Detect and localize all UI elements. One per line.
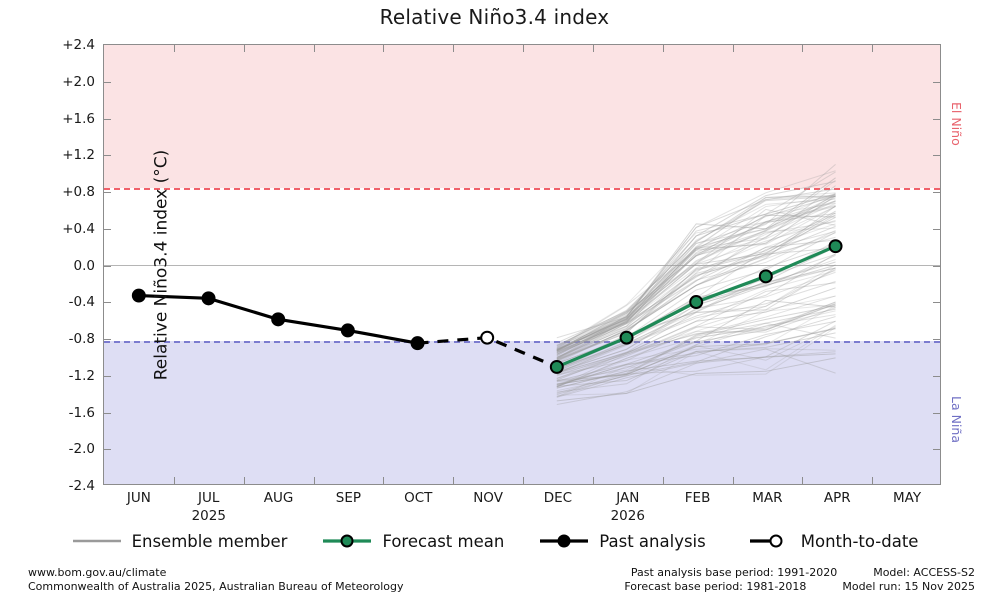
plot-area: +2.4+2.0+1.6+1.2+0.8+0.40.0-0.4-0.8-1.2-… bbox=[103, 44, 941, 485]
data-point-marker bbox=[272, 313, 284, 325]
data-point-marker bbox=[551, 361, 563, 373]
forecast-base-period: Forecast base period: 1981-2018 bbox=[624, 580, 806, 594]
x-tick-label: JUN bbox=[127, 490, 151, 506]
x-tick-label: JAN bbox=[616, 490, 639, 506]
legend-marker-icon bbox=[740, 533, 792, 549]
data-point-marker bbox=[412, 337, 424, 349]
data-point-marker bbox=[760, 270, 772, 282]
x-tick-label: NOV bbox=[473, 490, 503, 506]
model-run-date: Model run: 15 Nov 2025 bbox=[842, 580, 975, 594]
el-nino-label: El Niño bbox=[949, 102, 964, 146]
legend-marker-icon bbox=[538, 533, 590, 549]
x-tick-label: APR bbox=[824, 490, 851, 506]
footer-right: Past analysis base period: 1991-2020 Mod… bbox=[624, 566, 975, 593]
data-layer bbox=[104, 45, 940, 484]
y-tick-label: +2.0 bbox=[62, 74, 95, 90]
legend-item: Past analysis bbox=[538, 532, 705, 551]
y-tick-label: -1.2 bbox=[69, 368, 95, 384]
data-point-marker bbox=[690, 296, 702, 308]
page-title: Relative Niño3.4 index bbox=[0, 5, 989, 29]
data-point-marker bbox=[203, 292, 215, 304]
legend-marker-icon bbox=[321, 533, 373, 549]
data-point-marker bbox=[342, 324, 354, 336]
legend-marker-icon bbox=[71, 533, 123, 549]
x-tick-label: MAR bbox=[752, 490, 782, 506]
y-tick-label: -0.8 bbox=[69, 331, 95, 347]
series-past-analysis bbox=[133, 290, 424, 350]
y-tick-label: -2.4 bbox=[69, 478, 95, 494]
y-tick-label: 0.0 bbox=[74, 258, 95, 274]
legend-item-label: Month-to-date bbox=[801, 532, 919, 551]
data-point-marker bbox=[830, 240, 842, 252]
x-tick-label: MAY bbox=[893, 490, 921, 506]
ensemble-members bbox=[557, 164, 836, 404]
legend-item: Month-to-date bbox=[740, 532, 919, 551]
y-tick-label: +0.8 bbox=[62, 184, 95, 200]
x-tick-label: OCT bbox=[404, 490, 432, 506]
y-tick-label: +1.2 bbox=[62, 147, 95, 163]
x-tick-label: DEC bbox=[544, 490, 572, 506]
x-year-label: 2026 bbox=[611, 508, 645, 524]
footer-copyright: Commonwealth of Australia 2025, Australi… bbox=[28, 580, 403, 594]
la-nina-label: La Niña bbox=[949, 396, 964, 443]
y-tick-label: +2.4 bbox=[62, 37, 95, 53]
x-tick-label: AUG bbox=[264, 490, 294, 506]
footer-website: www.bom.gov.au/climate bbox=[28, 566, 403, 580]
legend-item-label: Forecast mean bbox=[382, 532, 504, 551]
x-year-label: 2025 bbox=[192, 508, 226, 524]
legend-item: Ensemble member bbox=[71, 532, 288, 551]
legend-item: Forecast mean bbox=[321, 532, 504, 551]
legend-item-label: Past analysis bbox=[599, 532, 705, 551]
footer-left: www.bom.gov.au/climate Commonwealth of A… bbox=[28, 566, 403, 593]
chart-page: Relative Niño3.4 index +2.4+2.0+1.6+1.2+… bbox=[0, 0, 989, 594]
x-tick-label: SEP bbox=[336, 490, 361, 506]
data-point-marker bbox=[133, 290, 145, 302]
y-tick-label: -2.0 bbox=[69, 441, 95, 457]
past-analysis-base-period: Past analysis base period: 1991-2020 bbox=[631, 566, 837, 580]
y-tick-label: +0.4 bbox=[62, 221, 95, 237]
data-point-marker bbox=[481, 332, 493, 344]
model-name: Model: ACCESS-S2 bbox=[873, 566, 975, 580]
y-axis-label: Relative Niño3.4 index (°C) bbox=[151, 149, 171, 380]
data-point-marker bbox=[621, 332, 633, 344]
chart-legend: Ensemble memberForecast meanPast analysi… bbox=[0, 524, 989, 558]
x-tick-label: JUL bbox=[198, 490, 219, 506]
y-tick-label: -0.4 bbox=[69, 294, 95, 310]
y-tick-label: -1.6 bbox=[69, 405, 95, 421]
y-tick-label: +1.6 bbox=[62, 111, 95, 127]
series-month-to-date bbox=[481, 332, 493, 344]
x-tick-label: FEB bbox=[685, 490, 711, 506]
legend-item-label: Ensemble member bbox=[132, 532, 288, 551]
